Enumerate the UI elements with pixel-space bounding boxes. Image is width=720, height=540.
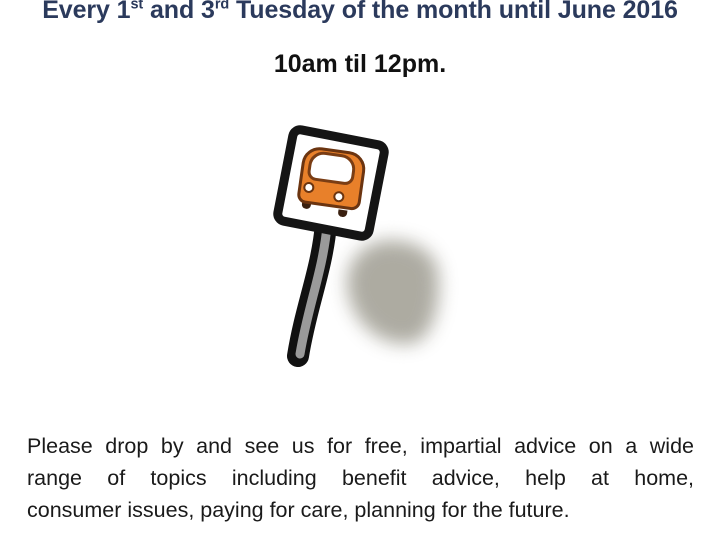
poster-canvas: Every 1st and 3rd Tuesday of the month u… <box>0 0 720 540</box>
schedule-heading: Every 1st and 3rd Tuesday of the month u… <box>0 0 720 25</box>
schedule-ordinal-first: st <box>130 0 143 13</box>
bus-stop-illustration <box>260 120 480 390</box>
bus-icon <box>293 143 370 218</box>
schedule-prefix: Every 1 <box>42 0 130 24</box>
bus-stop-sign <box>271 123 391 243</box>
advice-blurb-line-2: range of topics including benefit advice… <box>27 462 694 494</box>
advice-blurb-line-1: Please drop by and see us for free, impa… <box>27 430 694 462</box>
schedule-suffix: Tuesday of the month until June 2016 <box>229 0 678 24</box>
advice-blurb-line-3: consumer issues, paying for care, planni… <box>27 494 694 526</box>
schedule-middle: and 3 <box>143 0 215 24</box>
advice-blurb: Please drop by and see us for free, impa… <box>27 430 694 526</box>
schedule-ordinal-second: rd <box>215 0 229 13</box>
time-heading: 10am til 12pm. <box>0 50 720 79</box>
